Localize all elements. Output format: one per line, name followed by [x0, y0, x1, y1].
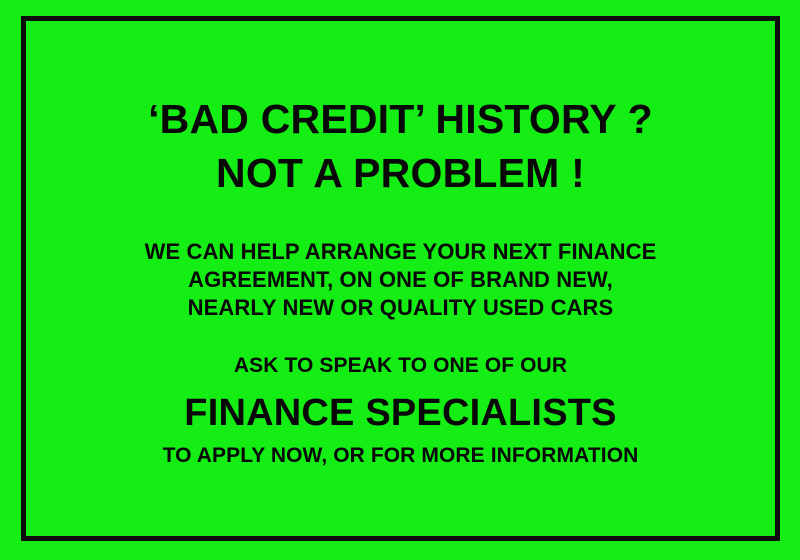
body-line-1: WE CAN HELP ARRANGE YOUR NEXT FINANCE [26, 238, 775, 266]
body-line-2: AGREEMENT, ON ONE OF BRAND NEW, [26, 266, 775, 294]
poster-content: ‘BAD CREDIT’ HISTORY ? NOT A PROBLEM ! W… [26, 21, 775, 536]
poster-border-frame: ‘BAD CREDIT’ HISTORY ? NOT A PROBLEM ! W… [21, 16, 780, 541]
advertisement-poster: ‘BAD CREDIT’ HISTORY ? NOT A PROBLEM ! W… [0, 0, 800, 560]
call-to-action-block: ASK TO SPEAK TO ONE OF OUR FINANCE SPECI… [26, 353, 775, 469]
cta-headline-finance-specialists: FINANCE SPECIALISTS [26, 390, 775, 436]
body-line-3: NEARLY NEW OR QUALITY USED CARS [26, 294, 775, 322]
cta-footer-text: TO APPLY NOW, OR FOR MORE INFORMATION [26, 443, 775, 469]
headline-line-1: ‘BAD CREDIT’ HISTORY ? [26, 92, 775, 146]
cta-lead-text: ASK TO SPEAK TO ONE OF OUR [26, 353, 775, 379]
headline-block: ‘BAD CREDIT’ HISTORY ? NOT A PROBLEM ! [26, 92, 775, 200]
headline-line-2: NOT A PROBLEM ! [26, 146, 775, 200]
body-copy-block: WE CAN HELP ARRANGE YOUR NEXT FINANCE AG… [26, 238, 775, 322]
